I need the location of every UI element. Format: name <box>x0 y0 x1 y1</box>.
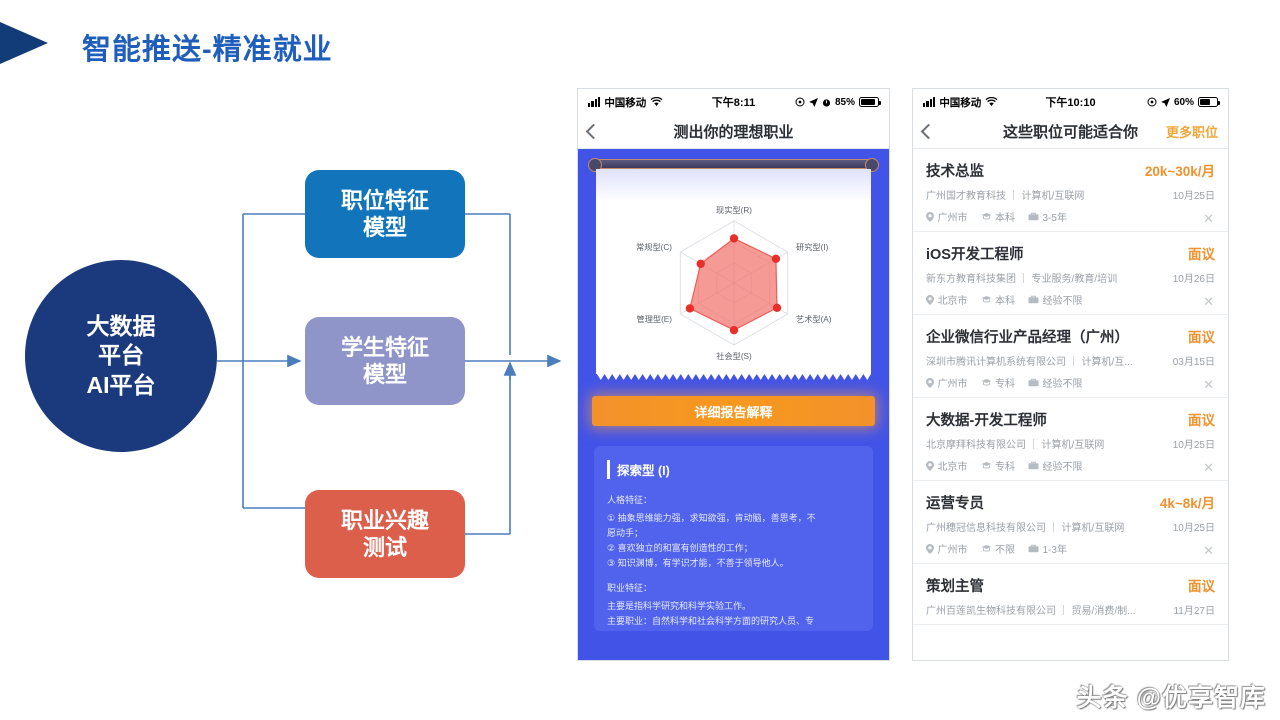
job-salary: 20k~30k/月 <box>1145 160 1215 180</box>
job-experience-tag: 3-5年 <box>1028 209 1067 224</box>
page-title: 智能推送-精准就业 <box>82 26 333 68</box>
job-experience: 经验不限 <box>1043 458 1083 473</box>
battery-percent-label: 85% <box>835 97 855 108</box>
briefcase-icon <box>1028 212 1039 221</box>
job-experience-tag: 经验不限 <box>1028 458 1083 473</box>
job-education-tag: 不限 <box>981 541 1016 556</box>
job-experience: 3-5年 <box>1043 209 1067 224</box>
dismiss-job-icon[interactable]: ✕ <box>1203 378 1214 391</box>
job-education: 本科 <box>995 292 1015 307</box>
job-education-tag: 本科 <box>981 209 1016 224</box>
dismiss-job-icon[interactable]: ✕ <box>1203 461 1214 474</box>
job-location-tag: 广州市 <box>926 209 968 224</box>
briefcase-icon <box>1028 378 1039 387</box>
graduation-cap-icon <box>981 544 992 553</box>
radar-label-5: 常规型(C) <box>636 242 672 252</box>
phone1-content: 现实型(R) 研究型(I) 艺术型(A) 社会型(S) 管理型(E) 常规型(C… <box>578 149 889 661</box>
job-location-tag: 北京市 <box>926 292 968 307</box>
wifi-icon <box>650 97 663 107</box>
node-student-line-2: 模型 <box>341 361 429 388</box>
report-explanation-card: 探索型 (I) 人格特征： ① 抽象思维能力强，求知欲强，肯动脑，善思考，不 愿… <box>594 446 873 631</box>
signal-icon <box>588 98 600 107</box>
battery-icon <box>1198 97 1218 107</box>
header-arrow-icon <box>0 22 48 64</box>
job-title: 技术总监 <box>926 160 1145 181</box>
job-salary: 面议 <box>1188 326 1215 346</box>
scroll-roller-icon <box>592 159 875 169</box>
radar-label-1: 研究型(I) <box>796 242 829 252</box>
job-list-item[interactable]: 技术总监 20k~30k/月 广州国才教育科技 ｜ 计算机/互联网 10月25日… <box>913 149 1228 232</box>
job-experience-tag: 1-3年 <box>1028 541 1067 556</box>
job-city: 广州市 <box>938 209 968 224</box>
job-company: 广州国才教育科技 ｜ 计算机/互联网 <box>926 187 1173 202</box>
alarm-target-icon <box>1147 97 1157 107</box>
briefcase-icon <box>1028 461 1039 470</box>
briefcase-icon <box>1028 544 1039 553</box>
phone2-navbar: 这些职位可能适合你 更多职位 <box>913 115 1228 149</box>
job-date: 03月15日 <box>1173 353 1215 368</box>
diagram-connectors <box>0 150 570 610</box>
graduation-cap-icon <box>981 295 992 304</box>
job-city: 广州市 <box>938 375 968 390</box>
radar-label-0: 现实型(R) <box>716 205 752 215</box>
graduation-cap-icon <box>981 378 992 387</box>
radar-label-3: 社会型(S) <box>716 351 752 361</box>
job-experience: 1-3年 <box>1043 541 1067 556</box>
job-title: iOS开发工程师 <box>926 243 1188 264</box>
architecture-diagram: 大数据 平台 AI平台 职位特征 模型 学生特征 模型 职业兴趣 测试 <box>0 150 570 610</box>
phone-screenshot-career-test: 中国移动 下午8:11 85% 测出你的理想职业 <box>577 88 890 661</box>
node-student-feature-model[interactable]: 学生特征 模型 <box>305 317 465 405</box>
job-city: 北京市 <box>938 458 968 473</box>
personality-label: 人格特征： <box>607 493 860 506</box>
job-company: 北京摩拜科技有限公司 ｜ 计算机/互联网 <box>926 436 1173 451</box>
job-list-item[interactable]: 运营专员 4k~8k/月 广州穗冠信息科技有限公司 ｜ 计算机/互联网 10月2… <box>913 481 1228 564</box>
job-title: 大数据-开发工程师 <box>926 409 1188 430</box>
torn-paper-edge-icon <box>596 374 871 382</box>
clock-label: 下午10:10 <box>1045 94 1095 110</box>
node-career-interest-test[interactable]: 职业兴趣 测试 <box>305 490 465 578</box>
personality-item: ① 抽象思维能力强，求知欲强，肯动脑，善思考，不 <box>607 511 860 526</box>
career-item: 主要职业：自然科学和社会科学方面的研究人员、专 <box>607 614 860 629</box>
watermark: 头条 @优享智库 <box>1077 678 1266 714</box>
battery-icon <box>859 97 879 107</box>
alarm-clock-icon <box>822 98 831 107</box>
radar-label-2: 艺术型(A) <box>796 314 832 324</box>
job-list-item[interactable]: iOS开发工程师 面议 新东方教育科技集团 ｜ 专业服务/教育/培训 10月26… <box>913 232 1228 315</box>
phone1-navbar: 测出你的理想职业 <box>578 115 889 149</box>
briefcase-icon <box>1028 295 1039 304</box>
job-location-tag: 广州市 <box>926 541 968 556</box>
job-education-tag: 本科 <box>981 292 1016 307</box>
report-type-title: 探索型 (I) <box>607 460 860 479</box>
job-education: 专科 <box>995 458 1015 473</box>
job-company: 广州百莲凯生物科技有限公司 ｜ 贸易/消费/制... <box>926 602 1173 617</box>
carrier-label: 中国移动 <box>604 95 646 110</box>
job-title: 运营专员 <box>926 492 1160 513</box>
location-pin-icon <box>926 461 934 471</box>
job-location-tag: 北京市 <box>926 458 968 473</box>
node-test-line-1: 职业兴趣 <box>341 507 429 534</box>
job-list[interactable]: 技术总监 20k~30k/月 广州国才教育科技 ｜ 计算机/互联网 10月25日… <box>913 149 1228 661</box>
job-education: 本科 <box>995 209 1015 224</box>
location-pin-icon <box>926 544 934 554</box>
dismiss-job-icon[interactable]: ✕ <box>1203 544 1214 557</box>
job-education-tag: 专科 <box>981 458 1016 473</box>
personality-item: ② 喜欢独立的和富有创造性的工作； <box>607 541 860 556</box>
job-education-tag: 专科 <box>981 375 1016 390</box>
career-item: 主要是指科学研究和科学实验工作。 <box>607 599 860 614</box>
job-experience: 经验不限 <box>1043 375 1083 390</box>
job-title: 企业微信行业产品经理（广州） <box>926 326 1188 347</box>
phone-screenshot-job-list: 中国移动 下午10:10 60% 这些职位可能适合你 更多职位 <box>912 88 1229 661</box>
job-list-item[interactable]: 企业微信行业产品经理（广州） 面议 深圳市腾讯计算机系统有限公司 ｜ 计算机/互… <box>913 315 1228 398</box>
job-company: 新东方教育科技集团 ｜ 专业服务/教育/培训 <box>926 270 1173 285</box>
dismiss-job-icon[interactable]: ✕ <box>1203 295 1214 308</box>
job-salary: 4k~8k/月 <box>1160 492 1215 512</box>
carrier-label: 中国移动 <box>939 95 981 110</box>
radar-chart: 现实型(R) 研究型(I) 艺术型(A) 社会型(S) 管理型(E) 常规型(C… <box>609 191 859 366</box>
node-job-feature-model[interactable]: 职位特征 模型 <box>305 170 465 258</box>
wifi-icon <box>985 97 998 107</box>
career-label: 职业特征： <box>607 581 860 594</box>
more-jobs-link[interactable]: 更多职位 <box>1166 122 1218 141</box>
node-job-line-2: 模型 <box>341 214 429 241</box>
job-company: 深圳市腾讯计算机系统有限公司 ｜ 计算机/互... <box>926 353 1173 368</box>
job-title: 策划主管 <box>926 575 1188 596</box>
signal-icon <box>923 98 935 107</box>
radar-label-4: 管理型(E) <box>636 314 672 324</box>
location-arrow-icon <box>1161 98 1170 107</box>
job-salary: 面议 <box>1188 575 1215 595</box>
job-date: 11月27日 <box>1173 602 1215 617</box>
phone1-status-bar: 中国移动 下午8:11 85% <box>578 89 889 115</box>
slide-root: 智能推送-精准就业 <box>0 0 1280 720</box>
job-education: 专科 <box>995 375 1015 390</box>
job-date: 10月26日 <box>1173 270 1215 285</box>
node-student-line-1: 学生特征 <box>341 334 429 361</box>
battery-percent-label: 60% <box>1174 97 1194 108</box>
job-education: 不限 <box>995 541 1015 556</box>
radar-chart-card: 现实型(R) 研究型(I) 艺术型(A) 社会型(S) 管理型(E) 常规型(C… <box>596 169 871 374</box>
personality-item: 愿动手； <box>607 526 860 541</box>
alarm-target-icon <box>795 97 805 107</box>
node-job-line-1: 职位特征 <box>341 187 429 214</box>
graduation-cap-icon <box>981 461 992 470</box>
back-chevron-icon[interactable] <box>586 124 602 140</box>
job-list-item[interactable]: 策划主管 面议 广州百莲凯生物科技有限公司 ｜ 贸易/消费/制... 11月27… <box>913 564 1228 625</box>
back-chevron-icon[interactable] <box>921 124 937 140</box>
location-pin-icon <box>926 295 934 305</box>
job-list-item[interactable]: 大数据-开发工程师 面议 北京摩拜科技有限公司 ｜ 计算机/互联网 10月25日… <box>913 398 1228 481</box>
job-city: 广州市 <box>938 541 968 556</box>
graduation-cap-icon <box>981 212 992 221</box>
personality-item: ③ 知识渊博，有学识才能，不善于领导他人。 <box>607 556 860 571</box>
job-date: 10月25日 <box>1173 519 1215 534</box>
location-pin-icon <box>926 378 934 388</box>
job-date: 10月25日 <box>1173 187 1215 202</box>
clock-label: 下午8:11 <box>712 94 755 110</box>
job-experience-tag: 经验不限 <box>1028 375 1083 390</box>
phone1-nav-title: 测出你的理想职业 <box>578 121 889 142</box>
node-test-line-2: 测试 <box>341 534 429 561</box>
location-arrow-icon <box>809 98 818 107</box>
location-pin-icon <box>926 212 934 222</box>
dismiss-job-icon[interactable]: ✕ <box>1203 212 1214 225</box>
job-experience-tag: 经验不限 <box>1028 292 1083 307</box>
job-city: 北京市 <box>938 292 968 307</box>
phone2-status-bar: 中国移动 下午10:10 60% <box>913 89 1228 115</box>
job-experience: 经验不限 <box>1043 292 1083 307</box>
job-date: 10月25日 <box>1173 436 1215 451</box>
job-location-tag: 广州市 <box>926 375 968 390</box>
detailed-report-button[interactable]: 详细报告解释 <box>592 396 875 426</box>
job-company: 广州穗冠信息科技有限公司 ｜ 计算机/互联网 <box>926 519 1173 534</box>
job-salary: 面议 <box>1188 243 1215 263</box>
job-salary: 面议 <box>1188 409 1215 429</box>
